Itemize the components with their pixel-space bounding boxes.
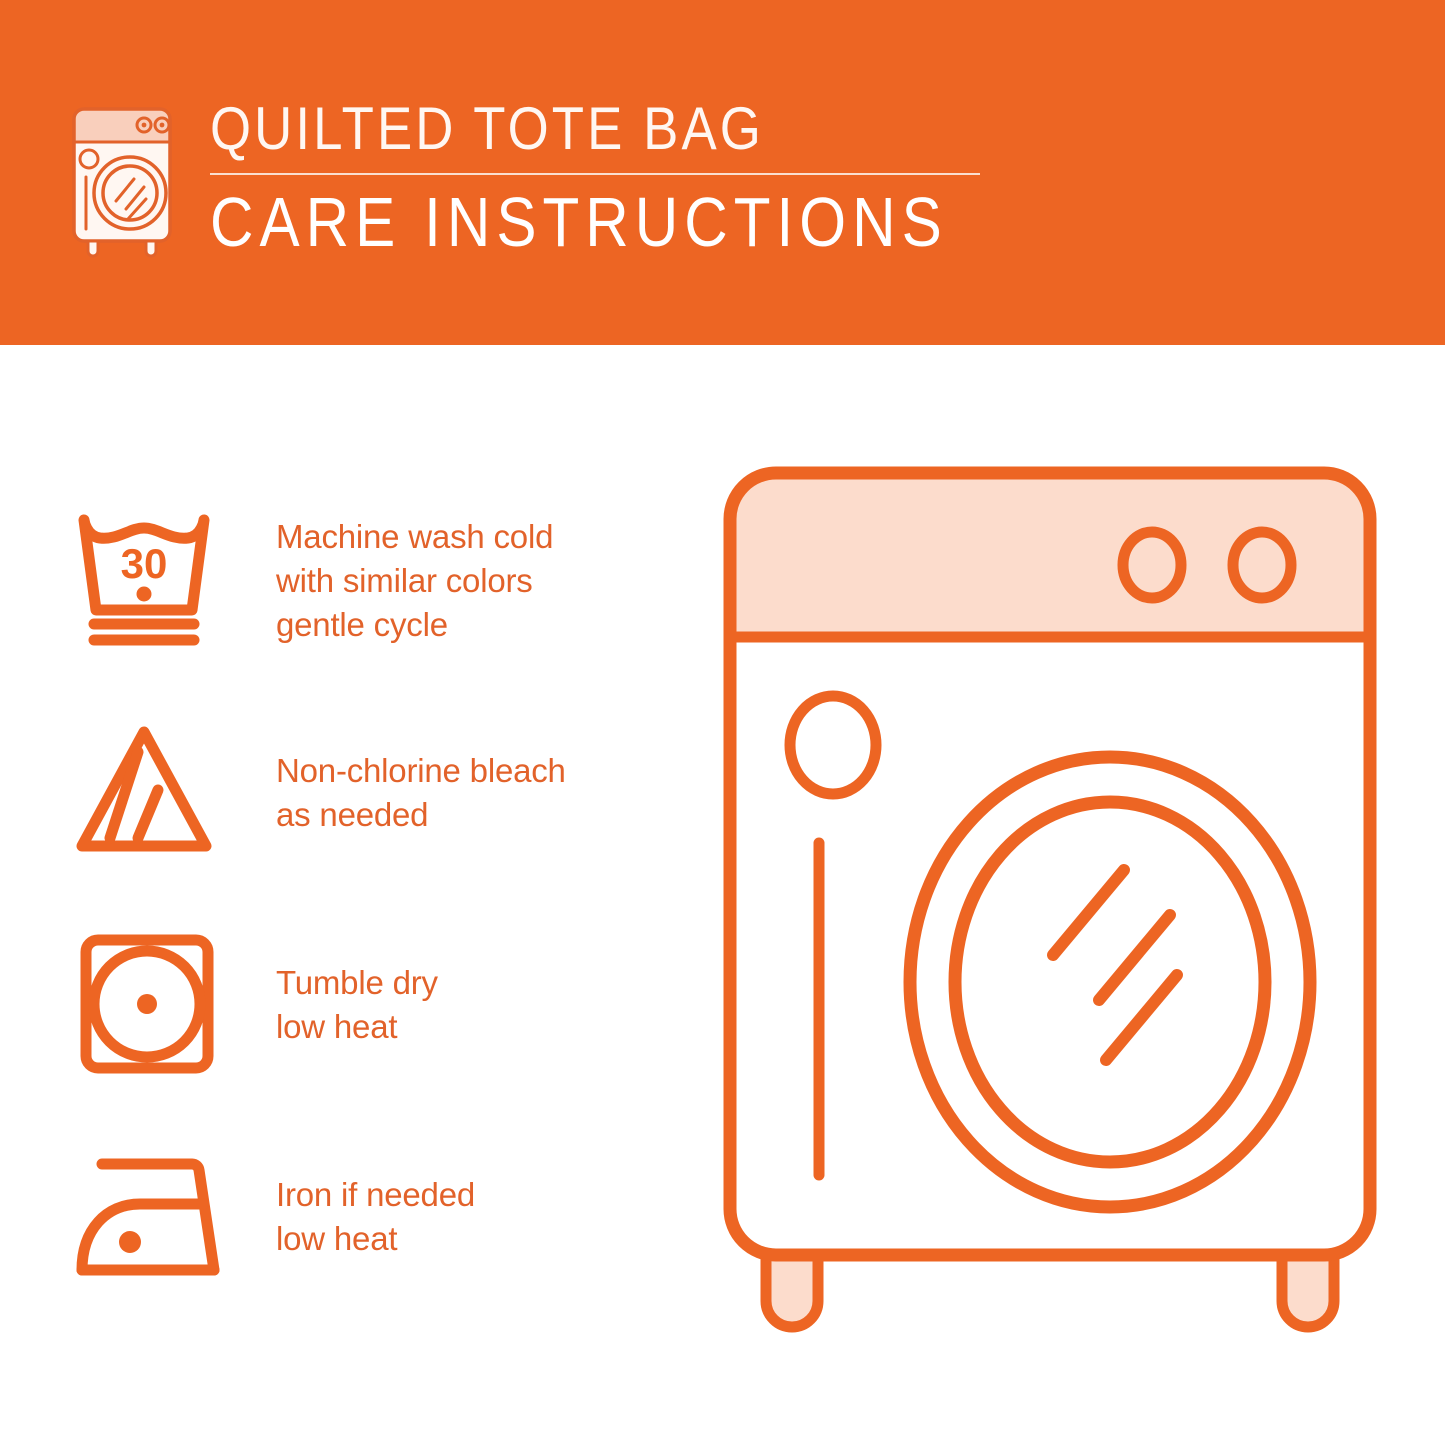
header-band: QUILTED TOTE BAG CARE INSTRUCTIONS [0,0,1445,345]
care-item-tumble-dry: Tumble dry low heat [70,919,690,1091]
care-instructions-list: 30 Machine wash cold with similar colors… [70,495,690,1303]
washing-machine-illustration [700,455,1400,1375]
header-inner: QUILTED TOTE BAG CARE INSTRUCTIONS [62,95,1068,261]
care-item-iron: Iron if needed low heat [70,1131,690,1303]
bleach-triangle-icon [70,718,240,868]
tumble-dry-icon [70,930,240,1080]
washing-machine-icon [62,101,182,261]
page-title: QUILTED TOTE BAG [210,99,965,159]
header-text-block: QUILTED TOTE BAG CARE INSTRUCTIONS [210,95,1068,257]
care-instructions-page: QUILTED TOTE BAG CARE INSTRUCTIONS [0,0,1445,1445]
care-item-text: Iron if needed low heat [276,1173,475,1261]
wash-tub-30-icon: 30 [70,506,240,656]
care-item-text: Non-chlorine bleach as needed [276,749,566,837]
care-item-text: Machine wash cold with similar colors ge… [276,515,553,647]
care-item-bleach: Non-chlorine bleach as needed [70,707,690,879]
body-area: 30 Machine wash cold with similar colors… [0,345,1445,1445]
care-item-text: Tumble dry low heat [276,961,438,1049]
iron-icon [70,1142,240,1292]
page-subtitle: CARE INSTRUCTIONS [210,187,948,257]
wash-temperature-label: 30 [121,540,168,587]
washer-control-panel [730,473,1370,637]
title-divider [210,173,980,175]
care-item-machine-wash: 30 Machine wash cold with similar colors… [70,495,690,667]
